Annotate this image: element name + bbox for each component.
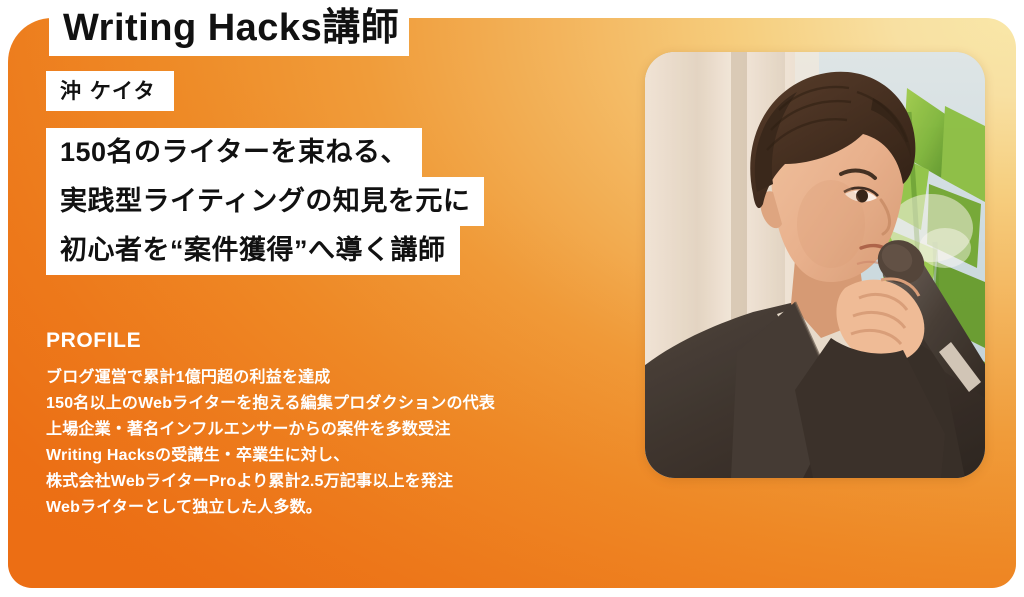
headline-block: 150名のライターを束ねる、 実践型ライティングの知見を元に 初心者を“案件獲得…	[46, 128, 484, 275]
profile-heading: PROFILE	[46, 330, 646, 351]
profile-line: Writing Hacksの受講生・卒業生に対し、	[46, 443, 646, 469]
profile-line: 150名以上のWebライターを抱える編集プロダクションの代表	[46, 391, 646, 417]
instructor-photo-illustration	[645, 52, 985, 478]
profile-line: 株式会社WebライターProより累計2.5万記事以上を発注	[46, 469, 646, 495]
profile-block: PROFILE ブログ運営で累計1億円超の利益を達成 150名以上のWebライタ…	[46, 330, 646, 520]
title-box: Writing Hacks講師	[49, 0, 409, 56]
profile-line: 上場企業・著名インフルエンサーからの案件を多数受注	[46, 417, 646, 443]
profile-banner: Writing Hacks講師 沖 ケイタ 150名のライターを束ねる、 実践型…	[0, 0, 1024, 597]
page-title: Writing Hacks講師	[63, 9, 399, 47]
profile-line: Webライターとして独立した人多数。	[46, 495, 646, 521]
name-badge: 沖 ケイタ	[46, 71, 174, 111]
profile-line: ブログ運営で累計1億円超の利益を達成	[46, 365, 646, 391]
headline-line: 150名のライターを束ねる、	[46, 128, 422, 177]
instructor-photo	[645, 52, 985, 478]
instructor-name: 沖 ケイタ	[60, 81, 156, 102]
headline-line: 実践型ライティングの知見を元に	[46, 177, 484, 226]
headline-line: 初心者を“案件獲得”へ導く講師	[46, 226, 460, 275]
